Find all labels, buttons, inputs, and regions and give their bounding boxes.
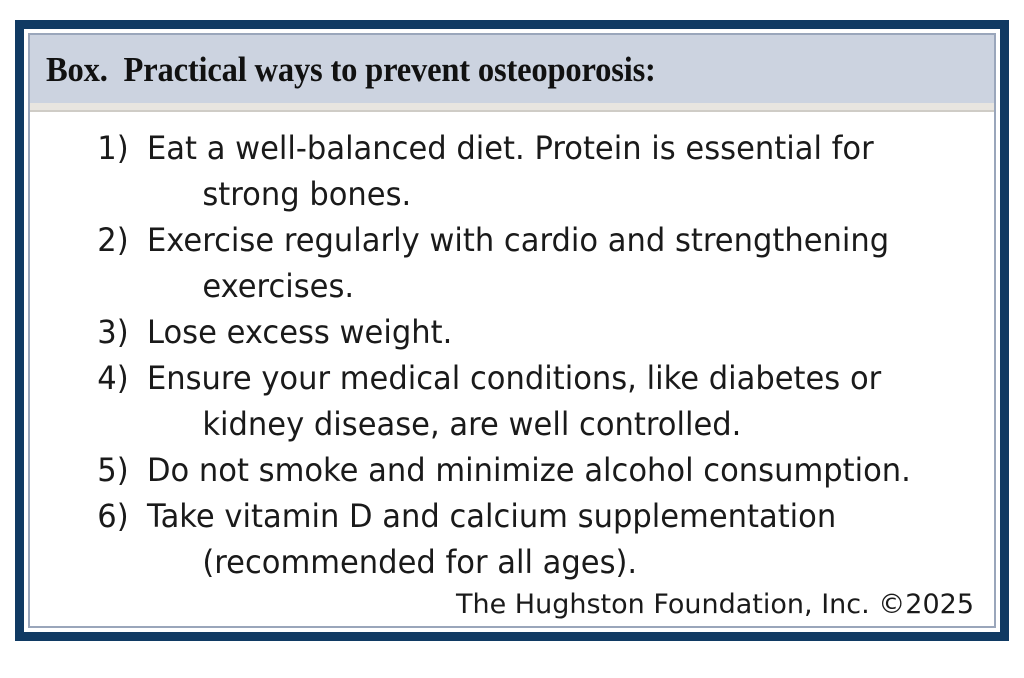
list-item-line-continued: exercises. [147,263,942,309]
page-title: Box. Practical ways to prevent osteoporo… [46,52,656,87]
list-item-line: Eat a well-balanced diet. Protein is ess… [147,129,874,167]
list-item-number: 5) [40,447,147,493]
list-item: 1) Eat a well-balanced diet. Protein is … [40,125,942,217]
list-item-text: Lose excess weight. [147,309,942,355]
info-box-header: Box. Practical ways to prevent osteoporo… [30,35,994,103]
list-item: 4) Ensure your medical conditions, like … [40,355,942,447]
list-item-line: Take vitamin D and calcium supplementati… [147,497,836,535]
separator-rule [30,110,994,112]
list-item-line: Lose excess weight. [147,313,452,351]
info-box-frame: Box. Practical ways to prevent osteoporo… [15,20,1009,641]
info-box-inner: Box. Practical ways to prevent osteoporo… [28,33,996,628]
list-item-number: 3) [40,309,147,355]
list-item-line: Do not smoke and minimize alcohol consum… [147,451,911,489]
list-item-line-continued: (recommended for all ages). [147,539,942,585]
list-item: 5) Do not smoke and minimize alcohol con… [40,447,942,493]
list-item-text: Eat a well-balanced diet. Protein is ess… [147,125,942,217]
list-item-number: 6) [40,493,147,539]
list-item-text: Do not smoke and minimize alcohol consum… [147,447,942,493]
list-item-text: Exercise regularly with cardio and stren… [147,217,942,309]
attribution-text: The Hughston Foundation, Inc. ©2025 [40,587,984,623]
list-item-line: Exercise regularly with cardio and stren… [147,221,889,259]
list-item-text: Take vitamin D and calcium supplementati… [147,493,942,585]
list-item-line: Ensure your medical conditions, like dia… [147,359,881,397]
separator-band [30,103,994,110]
list-item: 2) Exercise regularly with cardio and st… [40,217,942,309]
list-item-number: 1) [40,125,147,171]
list-item-text: Ensure your medical conditions, like dia… [147,355,942,447]
list-item: 6) Take vitamin D and calcium supplement… [40,493,942,585]
info-box-body: 1) Eat a well-balanced diet. Protein is … [30,115,994,626]
list-item-number: 4) [40,355,147,401]
prevention-list: 1) Eat a well-balanced diet. Protein is … [40,125,984,585]
list-item: 3) Lose excess weight. [40,309,942,355]
header-separator [30,103,994,115]
list-item-line-continued: kidney disease, are well controlled. [147,401,942,447]
list-item-line-continued: strong bones. [147,171,942,217]
list-item-number: 2) [40,217,147,263]
